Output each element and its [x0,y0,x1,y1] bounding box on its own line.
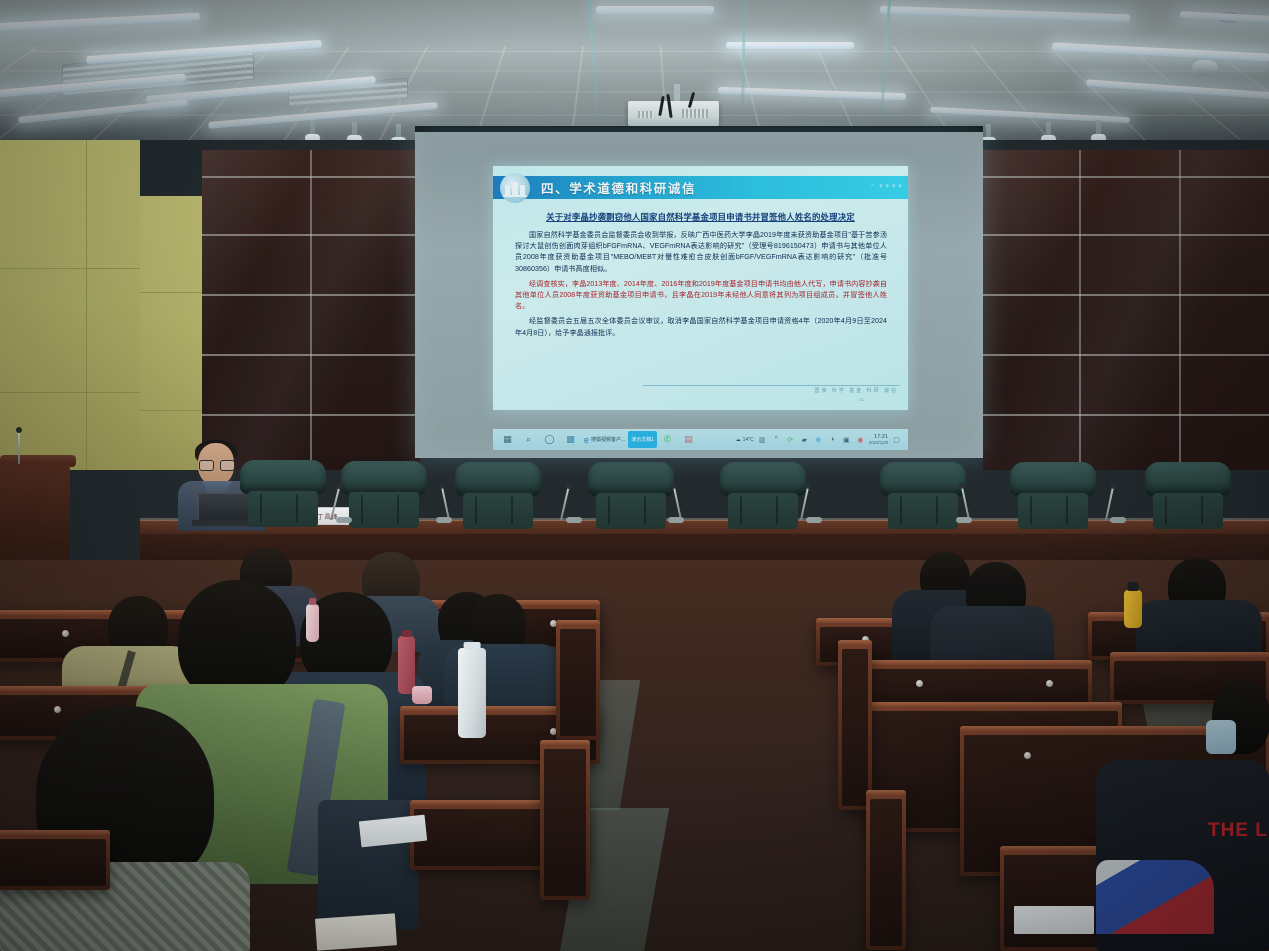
microphone-base [806,517,822,523]
podium: 汕头大学 文 [0,463,70,575]
stage-chair [880,462,966,534]
network-icon[interactable]: ▰ [799,431,810,449]
microphone-base [1110,517,1126,523]
pendant-light [1096,120,1101,136]
sports-bottle [1124,590,1142,628]
lecture-hall-photo: 四、学术道德和科研诚信 ◔ ♦ ♦ ♦ ♦ 关于对李晶抄袭剽窃他人国家自然科学基… [0,0,1269,951]
slide-body: 国家自然科学基金委员会监督委员会收到举报，反映广西中医药大学李晶2019年度未获… [515,230,887,343]
stage-chair [588,462,674,534]
presenter-glasses [199,460,233,469]
slide-band-icons: ◔ ♦ ♦ ♦ ♦ [869,181,902,190]
active-window-label: 演示文稿1 [631,436,654,443]
slide-page-number: 11 [859,397,864,402]
slide-footer-rule [643,385,900,386]
taskbar-app-active[interactable]: 演示文稿1 [628,431,657,448]
microphone-base [668,517,684,523]
notification-icon[interactable]: ▢ [891,431,902,449]
tshirt-print-text: THE L [1208,820,1268,842]
widgets-icon[interactable]: ▩ [560,431,581,449]
jacket-sleeve [1096,860,1214,934]
notification-badge-icon[interactable]: ◉ [855,431,866,449]
microphone-base [336,517,352,523]
seat-back [540,740,590,900]
wall-fabric-panel-center [140,196,202,470]
stage-chair [341,461,427,533]
microphone-base [566,517,582,523]
pendant-light [352,122,357,137]
microphone-base [956,517,972,523]
paper-sheet [1014,906,1094,934]
weather-indicator[interactable]: ☁ 14°C [736,437,754,443]
taskbar-tray[interactable]: ☁ 14°C ▥ ^ ⟳ ▰ ⊕ ◑ ▣ ◉ 17:21 2022/11/9 ▢ [736,431,904,449]
edge-icon: e [584,435,589,445]
chevron-up-icon[interactable]: ^ [771,431,782,449]
slide-title-text: 四、学术道德和科研诚信 [541,178,696,197]
stage-chair [455,462,541,534]
stage-chair [1010,462,1096,534]
decor-icon: ♦ ♦ ♦ ♦ [879,181,902,190]
water-bottle [398,636,415,694]
stage-chair [240,460,326,532]
desk-row [0,830,110,890]
pendant-light [310,120,315,136]
app-icon[interactable]: ▤ [678,431,699,449]
face-mask [1206,720,1236,754]
taskbar-app-edge[interactable]: e 搜狐视频客户... [581,431,628,448]
wall-fabric-panel-left [0,140,140,470]
weather-temp: 14°C [743,437,754,443]
wood-wall-left [202,150,420,470]
seat-back [556,620,600,740]
cloud-icon: ☁ [736,437,741,443]
circle-icon: ◔ [869,181,874,190]
stage-chair [1145,462,1231,534]
university-gate-logo-icon [500,173,530,203]
podium-microphone [18,430,20,464]
edge-label: 搜狐视频客户... [591,436,625,443]
presentation-slide[interactable]: 四、学术道德和科研诚信 ◔ ♦ ♦ ♦ ♦ 关于对李晶抄袭剽窃他人国家自然科学基… [493,166,908,410]
tray-app-icon[interactable]: ▥ [757,431,768,449]
windows-taskbar[interactable]: ▦ ⌕ ◯ ▩ e 搜狐视频客户... 演示文稿1 ✆ ▤ ☁ 14°C ▥ ^… [493,429,908,450]
task-view-icon[interactable]: ◯ [539,431,560,449]
wood-wall-right [983,150,1269,470]
paper-sheet [315,913,397,951]
slide-paragraph-2: 经调查核实，李晶2013年度、2014年度、2016年度和2019年度基金项目申… [515,279,887,313]
seat-back [866,790,906,950]
search-icon[interactable]: ⌕ [518,431,539,449]
pendant-light [396,124,401,139]
water-bottle [306,604,319,642]
thermos-bottle [458,648,486,738]
input-method-icon[interactable]: ⊕ [813,431,824,449]
slide-paragraph-1: 国家自然科学基金委员会监督委员会收到举报，反映广西中医药大学李晶2019年度未获… [515,230,887,275]
pendant-light [1046,122,1051,137]
projector [628,101,719,126]
taskbar-clock[interactable]: 17:21 2022/11/9 [869,434,888,446]
cup [412,686,432,704]
microphone-base [436,517,452,523]
volume-icon[interactable]: ◑ [827,431,838,449]
pendant-light [986,124,991,139]
seat-back [838,640,872,810]
sync-icon[interactable]: ⟳ [785,431,796,449]
stage-chair [720,462,806,534]
slide-paragraph-3: 经监督委员会五届五次全体委员会议审议，取消李晶国家自然科学基金项目申请资格4年（… [515,316,887,338]
battery-icon[interactable]: ▣ [841,431,852,449]
slide-heading: 关于对李晶抄袭剽窃他人国家自然科学基金项目申请书并冒签他人姓名的处理决定 [493,211,908,223]
windows-start-icon[interactable]: ▦ [497,431,518,449]
slide-footer-text: 国家 科学 基金 科研 诚信 [814,387,898,394]
wechat-icon[interactable]: ✆ [657,431,678,449]
clock-date: 2022/11/9 [869,440,888,446]
